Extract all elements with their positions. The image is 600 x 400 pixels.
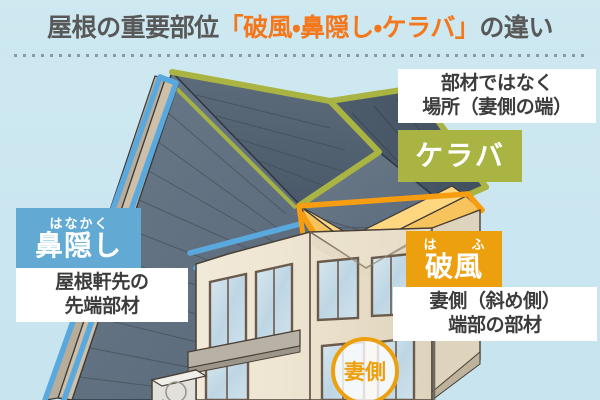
- hafu-badge: は ふ 破風: [406, 231, 502, 287]
- hanakakushi-note: 屋根軒先の 先端部材: [16, 268, 188, 322]
- hafu-ruby: は ふ: [412, 238, 495, 251]
- hafu-label: 破風: [425, 253, 483, 281]
- hafu-note-line1: 妻側（斜め側）: [399, 290, 591, 314]
- tsumagawa-label: 妻側: [344, 356, 386, 386]
- tsumagawa-circle-label: 妻側: [331, 337, 399, 400]
- hafu-note-line2: 端部の部材: [399, 314, 591, 338]
- hanakakushi-badge: はなかく 鼻隠し: [16, 208, 141, 268]
- header-bar: 屋根の重要部位「破風・鼻隠し・ケラバ」の違い: [0, 0, 600, 58]
- hafu-note: 妻側（斜め側） 端部の部材: [393, 287, 597, 341]
- hanakakushi-label: 鼻隠し: [35, 232, 122, 260]
- hanakakushi-note-line1: 屋根軒先の: [22, 271, 182, 295]
- hanakakushi-note-line2: 先端部材: [22, 295, 182, 319]
- keraba-note: 部材ではなく 場所（妻側の端）: [398, 69, 596, 123]
- keraba-badge: ケラバ: [398, 130, 522, 182]
- hanakakushi-ruby: はなかく: [47, 217, 109, 230]
- title-suffix: の違い: [479, 14, 553, 42]
- keraba-note-line1: 部材ではなく: [404, 72, 590, 96]
- header-divider: [14, 54, 586, 57]
- keraba-note-line2: 場所（妻側の端）: [404, 96, 590, 120]
- title-highlight: 「破風・鼻隠し・ケラバ」: [219, 14, 480, 42]
- title-prefix: 屋根の重要部位: [47, 14, 219, 42]
- keraba-label: ケラバ: [415, 142, 505, 170]
- page-title: 屋根の重要部位「破風・鼻隠し・ケラバ」の違い: [0, 8, 600, 44]
- infographic-root: 屋根の重要部位「破風・鼻隠し・ケラバ」の違い 部材ではなく 場所（妻側の端） ケ…: [0, 0, 600, 400]
